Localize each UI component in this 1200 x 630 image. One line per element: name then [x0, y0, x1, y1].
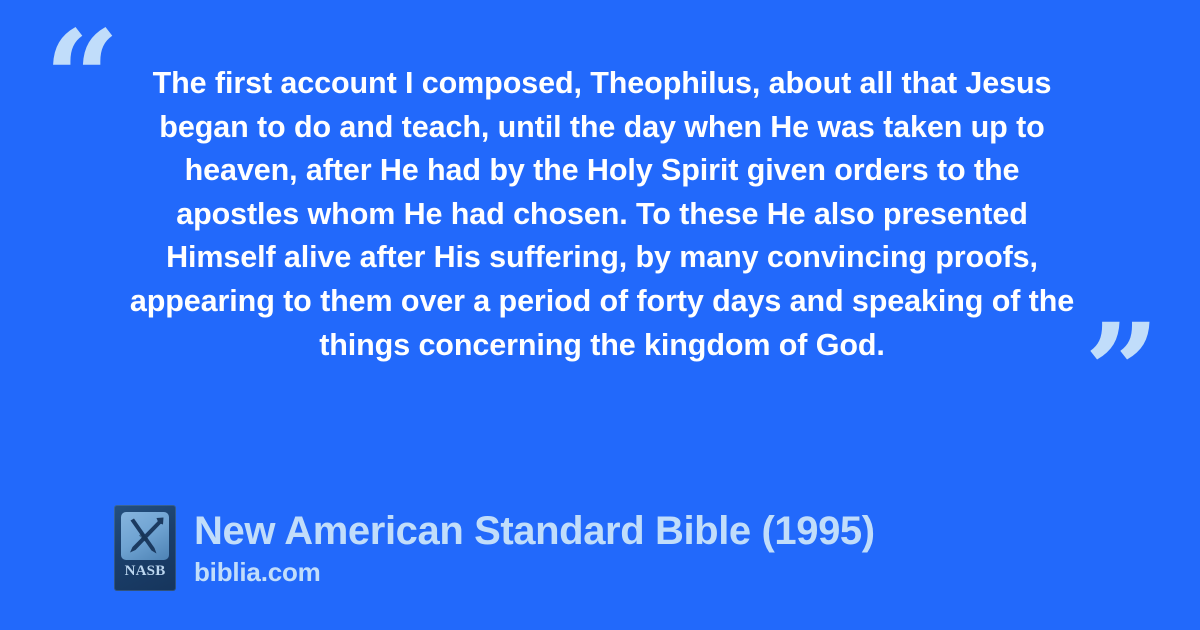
nasb-logo: NASB — [114, 505, 176, 591]
opening-quote-icon: “ — [44, 14, 120, 146]
quote-card: “ The first account I composed, Theophil… — [0, 0, 1200, 630]
attribution: NASB New American Standard Bible (1995) … — [114, 505, 875, 591]
logo-wordmark: NASB — [114, 563, 176, 580]
quote-text: The first account I composed, Theophilus… — [128, 62, 1076, 367]
source-website[interactable]: biblia.com — [194, 556, 875, 588]
quote-block: The first account I composed, Theophilus… — [128, 62, 1076, 367]
closing-quote-icon: ” — [1084, 307, 1160, 439]
crossed-sword-pen-icon — [121, 512, 169, 560]
bible-version-title: New American Standard Bible (1995) — [194, 507, 875, 555]
attribution-text: New American Standard Bible (1995) bibli… — [194, 505, 875, 588]
